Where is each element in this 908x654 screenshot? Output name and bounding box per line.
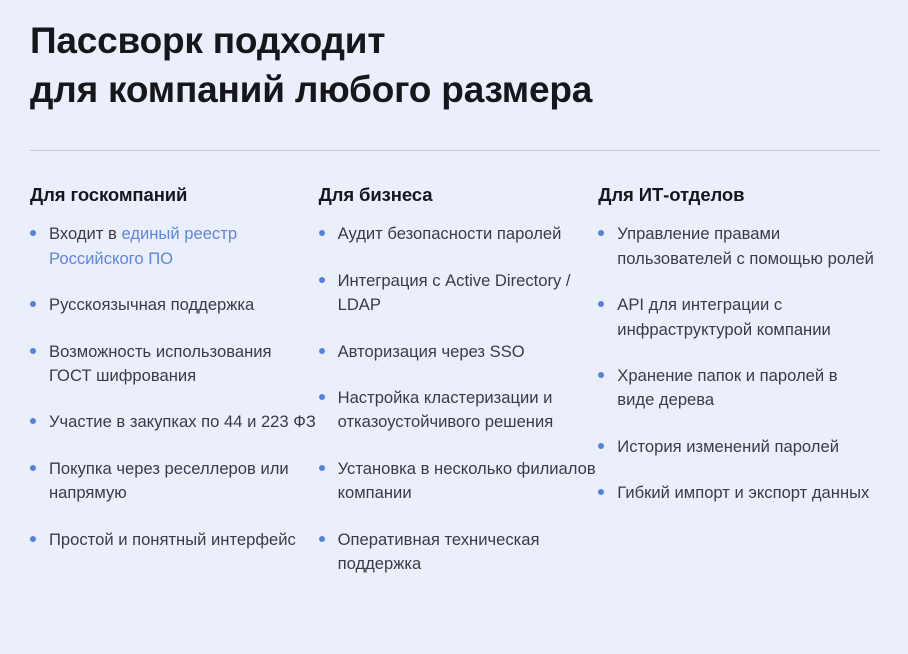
page-title-line-2: для компаний любого размера bbox=[30, 65, 730, 114]
bullet-icon bbox=[30, 230, 36, 236]
list-item-text: Аудит безопасности паролей bbox=[338, 224, 562, 243]
list-item: Русскоязычная поддержка bbox=[30, 293, 319, 317]
list-item: Настройка кластеризации и отказоустойчив… bbox=[319, 386, 599, 435]
list-item-text: Гибкий импорт и экспорт данных bbox=[617, 483, 869, 502]
list-item: Простой и понятный интерфейс bbox=[30, 528, 319, 552]
list-item: Управление правами пользователей с помощ… bbox=[598, 222, 878, 271]
list-item: Участие в закупках по 44 и 223 ФЗ bbox=[30, 410, 319, 434]
list-item-text: Участие в закупках по 44 и 223 ФЗ bbox=[49, 412, 316, 431]
list-item: Интеграция с Active Directory / LDAP bbox=[319, 269, 599, 318]
list-item-text: Управление правами пользователей с помощ… bbox=[617, 224, 874, 267]
bullet-icon bbox=[30, 301, 36, 307]
list-item: Аудит безопасности паролей bbox=[319, 222, 599, 246]
list-item: API для интеграции с инфраструктурой ком… bbox=[598, 293, 878, 342]
section-divider bbox=[30, 150, 880, 151]
column-gov: Для госкомпаний Входит в единый реестр Р… bbox=[30, 184, 319, 552]
list-item: Авторизация через SSO bbox=[319, 340, 599, 364]
list-item-text: История изменений паролей bbox=[617, 437, 839, 456]
bullet-icon bbox=[319, 277, 325, 283]
column-title-business: Для бизнеса bbox=[319, 184, 599, 206]
bullet-icon bbox=[30, 418, 36, 424]
list-item-text: Возможность использования ГОСТ шифровани… bbox=[49, 342, 271, 385]
bullet-icon bbox=[319, 348, 325, 354]
bullet-icon bbox=[598, 489, 604, 495]
list-item: Входит в единый реестр Российского ПО bbox=[30, 222, 319, 271]
page-title: Пассворк подходит для компаний любого ра… bbox=[30, 0, 730, 114]
list-item: Возможность использования ГОСТ шифровани… bbox=[30, 340, 319, 389]
list-item-text: Интеграция с Active Directory / LDAP bbox=[338, 271, 571, 314]
list-item: Оперативная техническая поддержка bbox=[319, 528, 599, 577]
list-item-text: Настройка кластеризации и отказоустойчив… bbox=[338, 388, 554, 431]
list-item: История изменений паролей bbox=[598, 435, 878, 459]
list-item-text: Русскоязычная поддержка bbox=[49, 295, 254, 314]
bullet-icon bbox=[598, 372, 604, 378]
list-item-text: Входит в bbox=[49, 224, 121, 243]
bullet-icon bbox=[598, 443, 604, 449]
bullet-icon bbox=[319, 536, 325, 542]
list-item: Установка в несколько филиалов компании bbox=[319, 457, 599, 506]
bullet-icon bbox=[30, 536, 36, 542]
list-item-text: Установка в несколько филиалов компании bbox=[338, 459, 596, 502]
bullet-icon bbox=[319, 465, 325, 471]
page-root: Пассворк подходит для компаний любого ра… bbox=[0, 0, 908, 654]
bullet-icon bbox=[319, 394, 325, 400]
list-item-text: API для интеграции с инфраструктурой ком… bbox=[617, 295, 830, 338]
bullet-icon bbox=[598, 230, 604, 236]
page-title-line-1: Пассворк подходит bbox=[30, 16, 730, 65]
list-item-text: Оперативная техническая поддержка bbox=[338, 530, 540, 573]
feature-columns: Для госкомпаний Входит в единый реестр Р… bbox=[30, 184, 878, 576]
feature-list-gov: Входит в единый реестр Российского ПО Ру… bbox=[30, 222, 319, 552]
list-item: Покупка через реселлеров или напрямую bbox=[30, 457, 319, 506]
column-title-it: Для ИТ-отделов bbox=[598, 184, 878, 206]
list-item-text: Авторизация через SSO bbox=[338, 342, 525, 361]
bullet-icon bbox=[598, 301, 604, 307]
column-business: Для бизнеса Аудит безопасности паролей И… bbox=[319, 184, 599, 576]
list-item-text: Покупка через реселлеров или напрямую bbox=[49, 459, 289, 502]
feature-list-business: Аудит безопасности паролей Интеграция с … bbox=[319, 222, 599, 576]
column-it: Для ИТ-отделов Управление правами пользо… bbox=[598, 184, 878, 505]
list-item-text: Простой и понятный интерфейс bbox=[49, 530, 296, 549]
column-title-gov: Для госкомпаний bbox=[30, 184, 319, 206]
bullet-icon bbox=[319, 230, 325, 236]
feature-list-it: Управление правами пользователей с помощ… bbox=[598, 222, 878, 505]
bullet-icon bbox=[30, 465, 36, 471]
list-item: Гибкий импорт и экспорт данных bbox=[598, 481, 878, 505]
list-item-text: Хранение папок и паролей в виде дерева bbox=[617, 366, 837, 409]
bullet-icon bbox=[30, 348, 36, 354]
list-item: Хранение папок и паролей в виде дерева bbox=[598, 364, 878, 413]
